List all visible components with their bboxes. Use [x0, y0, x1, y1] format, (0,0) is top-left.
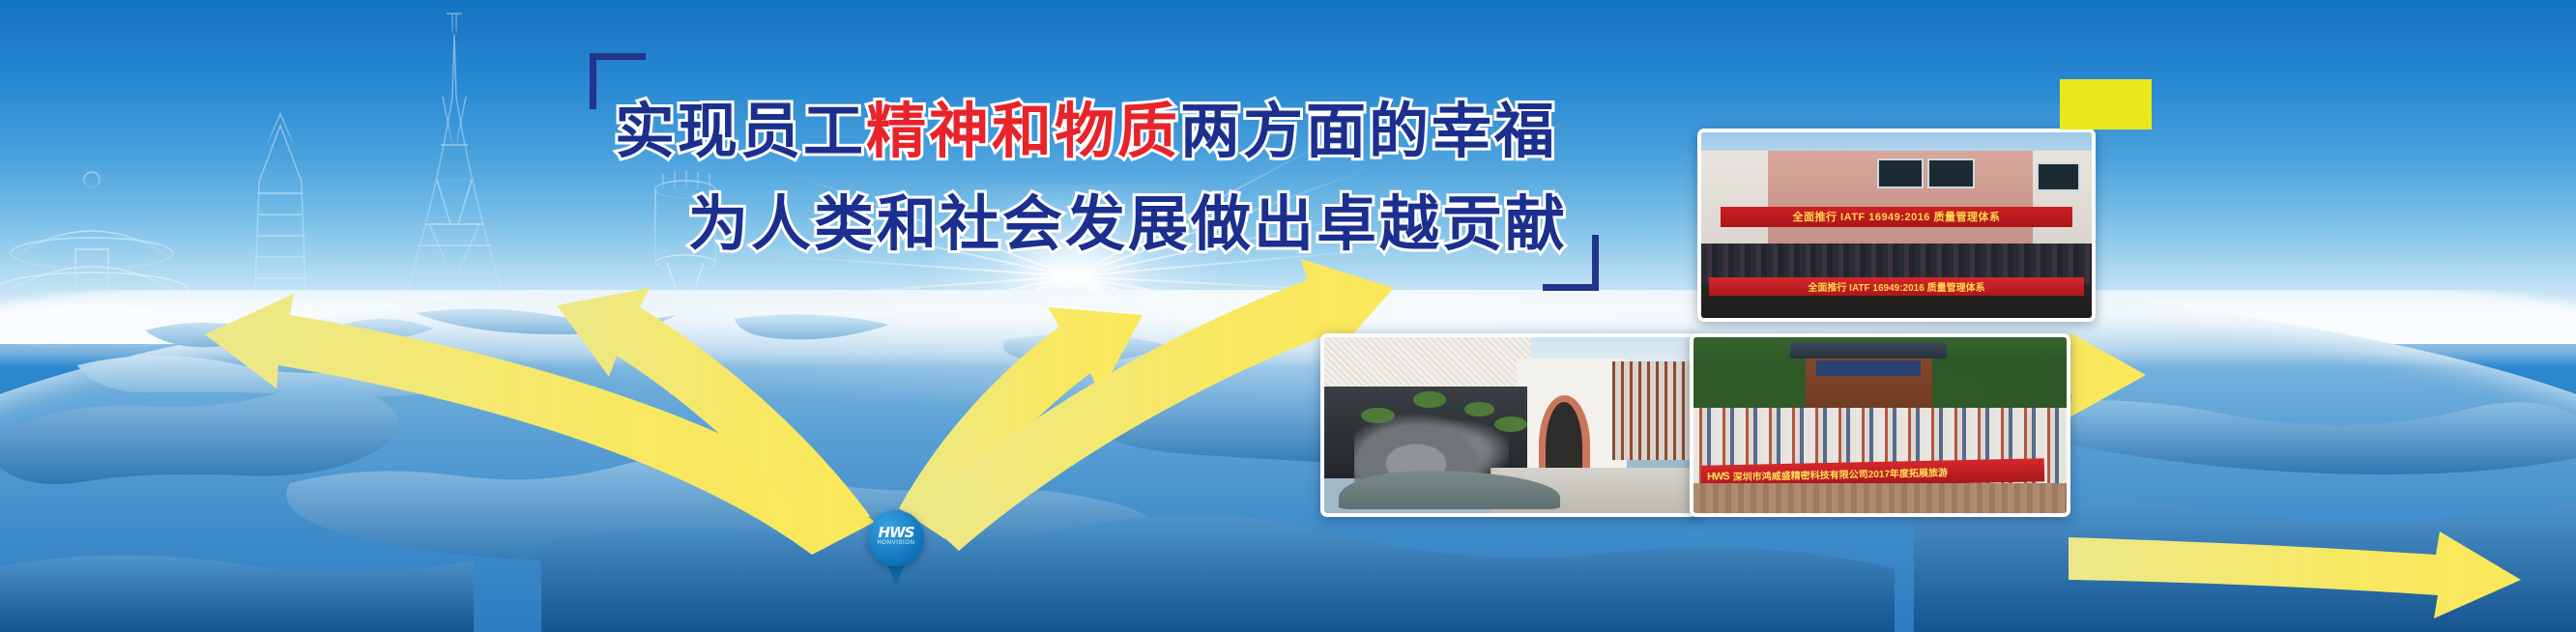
- outing-banner-logo: HWS: [1707, 471, 1729, 482]
- company-culture-banner: HWS HONVISION 实现员工精神和物质两方面的幸福 为人类和社会发展做出…: [0, 0, 2576, 632]
- globe: [0, 290, 2576, 632]
- factory-group-photo[interactable]: 全面推行 IATF 16949:2016 质量管理体系 全面推行 IATF 16…: [1697, 129, 2096, 322]
- hws-location-pin: HWS HONVISION: [868, 510, 924, 588]
- yellow-accent-rectangle: [2060, 79, 2152, 129]
- factory-banner-text: 全面推行 IATF 16949:2016 质量管理体系: [1721, 207, 2072, 227]
- company-garden-photo[interactable]: [1320, 333, 1697, 517]
- slogan-block: 实现员工精神和物质两方面的幸福 为人类和社会发展做出卓越贡献: [580, 53, 1624, 295]
- continents: [0, 290, 2576, 632]
- slogan-line-1: 实现员工精神和物质两方面的幸福: [615, 82, 1557, 169]
- company-outing-photo[interactable]: HWS 深圳市鸿威盛精密科技有限公司2017年度拓展旅游: [1690, 333, 2070, 517]
- slogan-line1-part1: 实现员工: [615, 96, 866, 166]
- slogan-line-2: 为人类和社会发展做出卓越贡献: [688, 175, 1568, 262]
- pin-logo-mark: HWS: [868, 526, 924, 540]
- factory-group-banner-text: 全面推行 IATF 16949:2016 质量管理体系: [1709, 277, 2084, 296]
- outing-banner-text: 深圳市鸿威盛精密科技有限公司2017年度拓展旅游: [1732, 465, 1948, 484]
- eiffel-tower-icon: [391, 14, 518, 321]
- pin-logo-sub: HONVISION: [868, 540, 924, 546]
- slogan-line1-part2: 两方面的幸福: [1180, 96, 1557, 166]
- slogan-line1-highlight: 精神和物质: [866, 96, 1180, 166]
